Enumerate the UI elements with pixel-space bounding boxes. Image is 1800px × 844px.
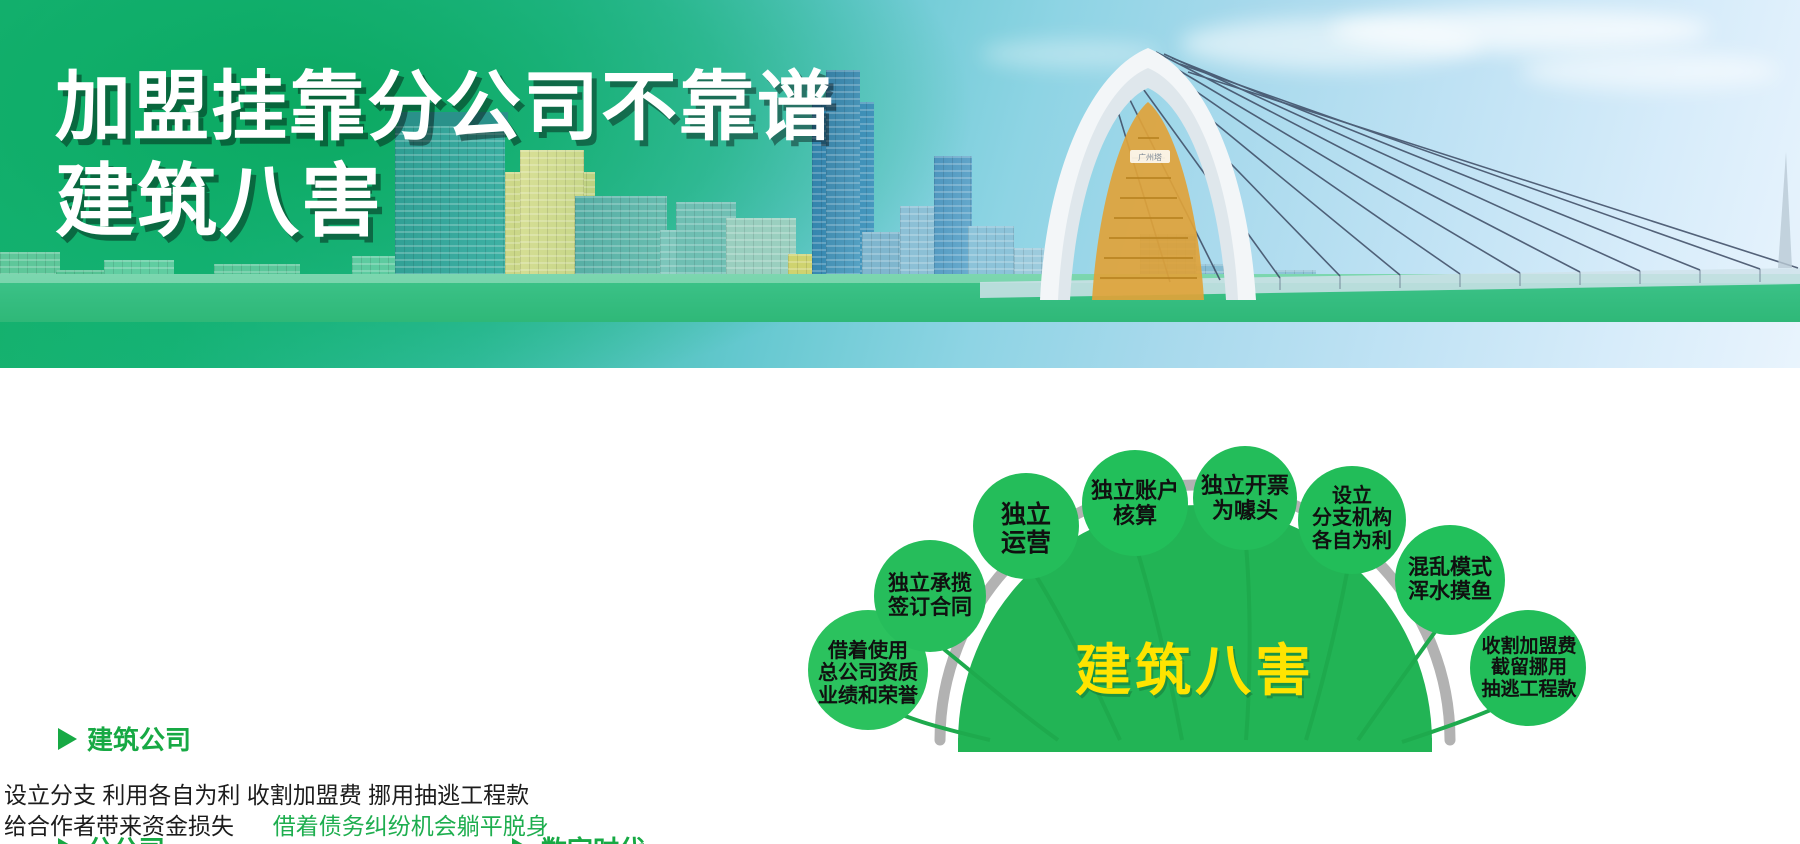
section-heading-label: 数字时代 [541, 830, 645, 844]
triangle-bullet-icon [58, 728, 77, 750]
triangle-bullet-icon [58, 838, 77, 844]
bridge-illustration: 广州塔 [980, 32, 1800, 322]
poster-root: 广州塔 加盟挂靠分公司不靠谱 建筑八害 建筑公司 设立分支 利用各自为利 收割加… [0, 0, 1800, 844]
section-heading-digital-era: 数字时代 [512, 830, 645, 844]
triangle-bullet-icon [512, 838, 531, 844]
infographic-panel: 借着使用 总公司资质 业绩和荣誉 独立承揽 签订合同 独立 运营 独立账户 核算… [790, 368, 1800, 844]
dome-center-label: 建筑八害 [988, 626, 1402, 707]
section-heading-label: 分公司 [87, 830, 165, 844]
body-line: 设立分支 利用各自为利 收割加盟费 挪用抽逃工程款 [4, 780, 549, 811]
body-line-green: 借着债务纠纷机会躺平脱身 [273, 813, 549, 839]
section-heading-label: 建筑公司 [87, 720, 191, 757]
left-content-column: 建筑公司 设立分支 利用各自为利 收割加盟费 挪用抽逃工程款 给合作者带来资金损… [0, 368, 790, 844]
hero-banner: 广州塔 加盟挂靠分公司不靠谱 建筑八害 [0, 0, 1800, 368]
svg-text:广州塔: 广州塔 [1138, 152, 1162, 162]
section-heading-branch-company: 分公司 [58, 830, 165, 844]
page-title: 加盟挂靠分公司不靠谱 建筑八害 [55, 62, 835, 250]
infographic-svg [790, 368, 1800, 844]
hero-title-line1: 加盟挂靠分公司不靠谱 [55, 62, 835, 154]
hero-title-line2: 建筑八害 [55, 154, 835, 250]
section-heading-construction-company: 建筑公司 [58, 720, 191, 757]
